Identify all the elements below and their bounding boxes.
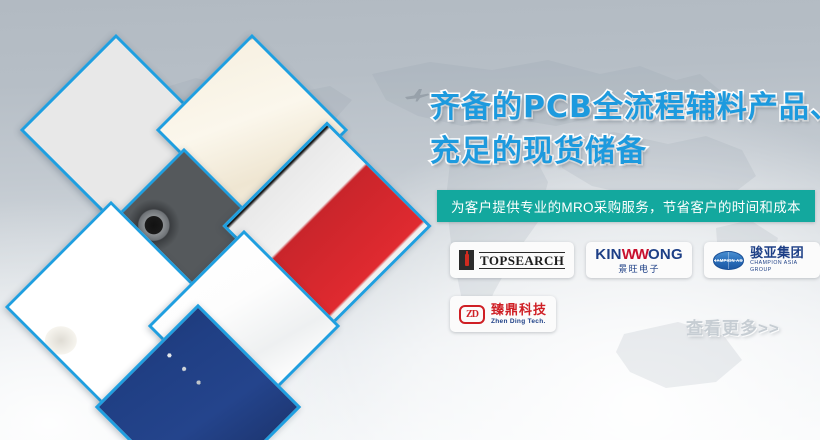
promo-banner: JIE 齐备的PCB全流程辅料产品、 充足的现货储备 为客户提供专业的MRO采购… <box>0 0 820 440</box>
client-logo-row-2: ZD 臻鼎科技 Zhen Ding Tech. <box>450 296 556 332</box>
headline-line-2: 充足的现货储备 <box>430 130 810 174</box>
zhen-ding-mark-icon: ZD <box>459 305 485 324</box>
champion-asia-text: 骏亚集团 CHAMPION ASIA GROUP <box>750 246 811 274</box>
logo-zhen-ding[interactable]: ZD 臻鼎科技 Zhen Ding Tech. <box>450 296 556 332</box>
logo-topsearch[interactable]: TOPSEARCH <box>450 242 574 278</box>
airplane-icon <box>404 88 430 102</box>
topsearch-wordmark: TOPSEARCH <box>479 252 565 269</box>
view-more-link[interactable]: 查看更多>> <box>686 314 780 339</box>
champion-asia-en-name: CHAMPION ASIA GROUP <box>750 260 811 274</box>
subtitle-text: 为客户提供专业的MRO采购服务，节省客户的时间和成本 <box>451 196 801 216</box>
kinwong-cn-name: 景旺电子 <box>618 264 660 274</box>
client-logo-row-1: TOPSEARCH KINWWONG 景旺电子 CHAMPION ASIA 骏亚… <box>450 242 820 278</box>
kinwong-w-mark-icon: WW <box>622 246 648 263</box>
globe-icon: CHAMPION ASIA <box>713 251 744 270</box>
headline: 齐备的PCB全流程辅料产品、 充足的现货储备 <box>430 86 810 174</box>
zhen-ding-cn-name: 臻鼎科技 <box>491 303 547 317</box>
logo-kinwong[interactable]: KINWWONG 景旺电子 <box>586 242 692 278</box>
kinwong-wordmark: KINWWONG <box>595 247 683 263</box>
zhen-ding-text: 臻鼎科技 Zhen Ding Tech. <box>491 303 547 326</box>
topsearch-mark-icon <box>459 250 474 270</box>
champion-asia-cn-name: 骏亚集团 <box>750 246 811 260</box>
globe-icon-label: CHAMPION ASIA <box>713 258 744 263</box>
logo-champion-asia[interactable]: CHAMPION ASIA 骏亚集团 CHAMPION ASIA GROUP <box>704 242 820 278</box>
zhen-ding-en-name: Zhen Ding Tech. <box>491 317 547 326</box>
headline-line-1: 齐备的PCB全流程辅料产品、 <box>430 86 810 130</box>
subtitle-bar: 为客户提供专业的MRO采购服务，节省客户的时间和成本 <box>437 190 815 222</box>
